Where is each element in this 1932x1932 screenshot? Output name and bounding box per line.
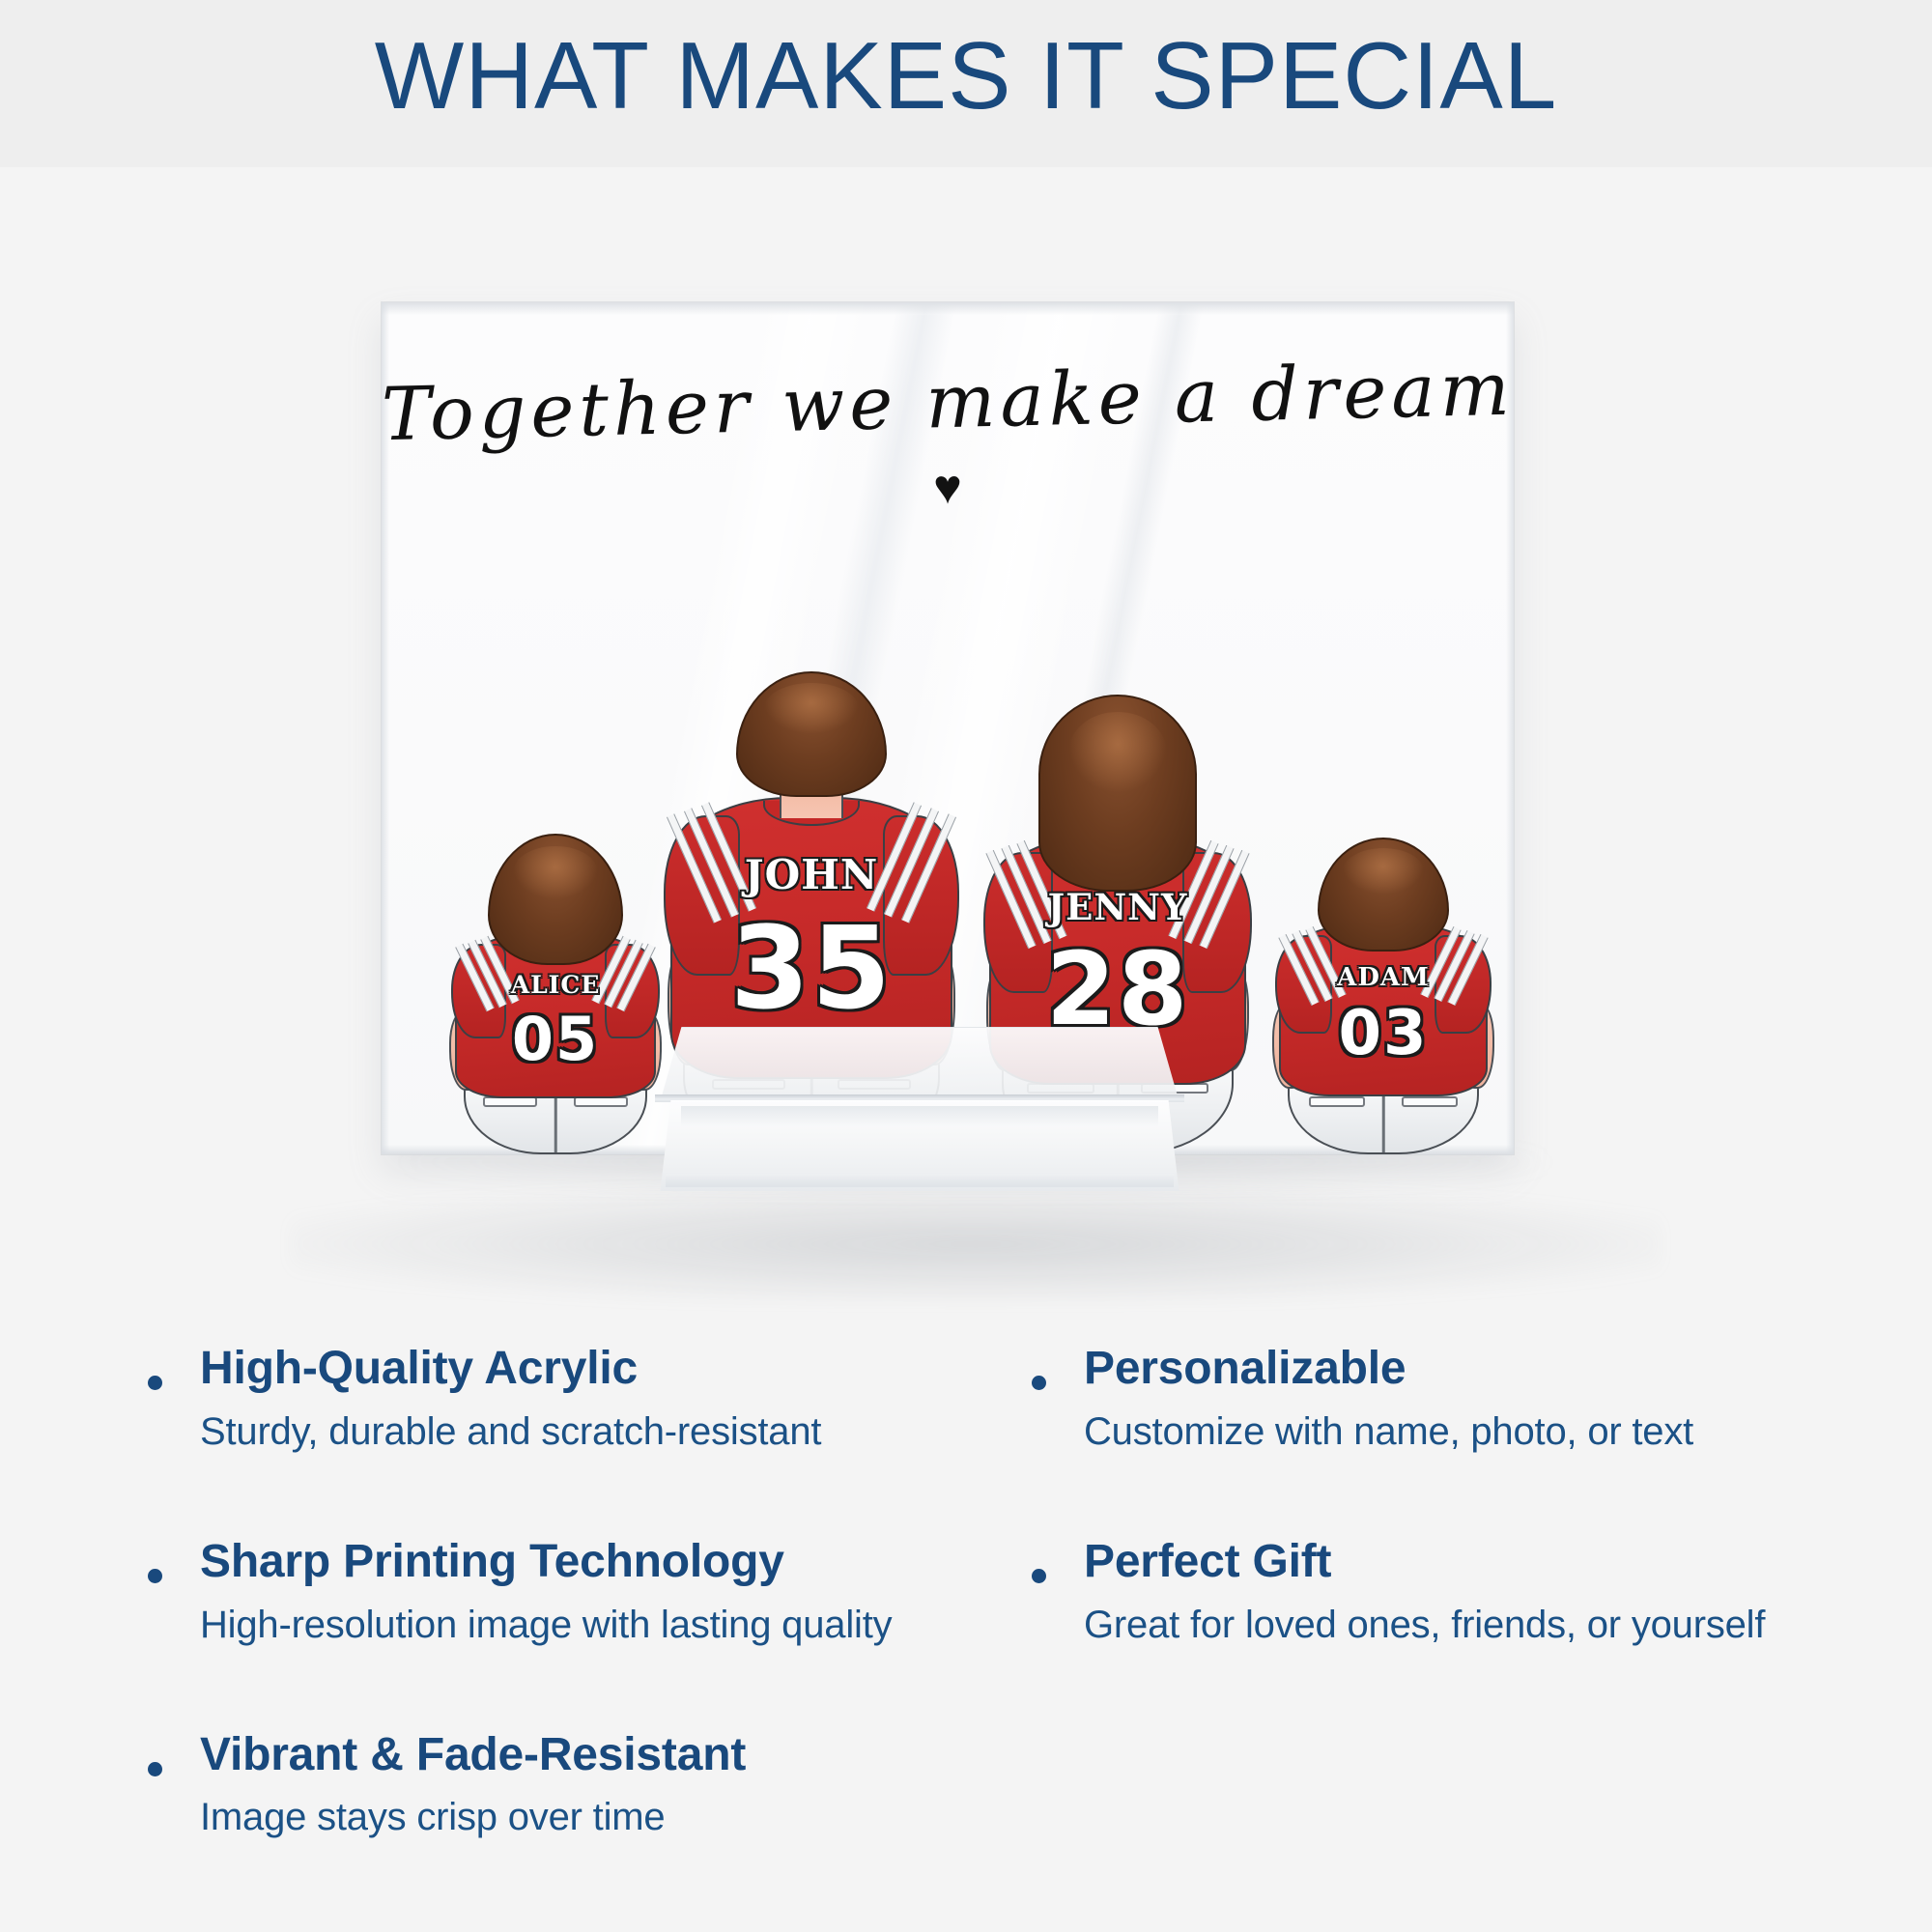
figure-alice: ALICE 05 bbox=[440, 836, 671, 1154]
plaque-quote: Together we make a dream team bbox=[382, 346, 1514, 458]
stand-front-face bbox=[655, 1100, 1184, 1191]
bullet-icon bbox=[1032, 1569, 1046, 1583]
feature-title: Perfect Gift bbox=[1084, 1536, 1869, 1588]
plaque-bevel-top bbox=[382, 302, 1514, 315]
feature-desc: Customize with name, photo, or text bbox=[1084, 1408, 1869, 1455]
figure-hair-jenny bbox=[1038, 695, 1197, 892]
feature-title: Personalizable bbox=[1084, 1343, 1869, 1395]
feature-item: Sharp Printing Technology High-resolutio… bbox=[135, 1536, 985, 1648]
figure-hair-alice bbox=[488, 834, 623, 965]
feature-item: High-Quality Acrylic Sturdy, durable and… bbox=[135, 1343, 985, 1455]
stand-top-face bbox=[661, 1027, 1179, 1099]
feature-desc: Image stays crisp over time bbox=[200, 1794, 985, 1840]
feature-desc: Sturdy, durable and scratch-resistant bbox=[200, 1408, 985, 1455]
stand-shadow bbox=[290, 1186, 1662, 1302]
jersey-name-jenny: JENNY bbox=[991, 886, 1244, 928]
feature-title: High-Quality Acrylic bbox=[200, 1343, 985, 1395]
feature-item: Perfect Gift Great for loved ones, frien… bbox=[1019, 1536, 1869, 1648]
figure-hair-john bbox=[736, 671, 887, 797]
jersey-name-john: JOHN bbox=[672, 851, 951, 898]
feature-item: Personalizable Customize with name, phot… bbox=[1019, 1343, 1869, 1455]
jersey-number-alice: 05 bbox=[457, 1004, 654, 1074]
jersey-number-adam: 03 bbox=[1281, 998, 1486, 1069]
bullet-icon bbox=[148, 1569, 162, 1583]
acrylic-stand-base bbox=[655, 1027, 1184, 1191]
figure-adam: ADAM 03 bbox=[1263, 814, 1504, 1154]
page-title: WHAT MAKES IT SPECIAL bbox=[0, 21, 1932, 130]
feature-title: Sharp Printing Technology bbox=[200, 1536, 985, 1588]
bullet-icon bbox=[1032, 1376, 1046, 1390]
bullet-icon bbox=[148, 1762, 162, 1776]
jersey-name-adam: ADAM bbox=[1281, 963, 1486, 992]
feature-item: Vibrant & Fade-Resistant Image stays cri… bbox=[135, 1729, 985, 1841]
feature-column-left: High-Quality Acrylic Sturdy, durable and… bbox=[135, 1343, 985, 1921]
bullet-icon bbox=[148, 1376, 162, 1390]
feature-desc: High-resolution image with lasting quali… bbox=[200, 1602, 985, 1648]
feature-desc: Great for loved ones, friends, or yourse… bbox=[1084, 1602, 1869, 1648]
feature-column-right: Personalizable Customize with name, phot… bbox=[1019, 1343, 1869, 1729]
jersey-name-alice: ALICE bbox=[457, 971, 654, 999]
product-stage: Together we make a dream team ♥ bbox=[0, 167, 1932, 1307]
feature-title: Vibrant & Fade-Resistant bbox=[200, 1729, 985, 1781]
jersey-number-john: 35 bbox=[672, 901, 951, 1035]
figure-hair-adam bbox=[1318, 838, 1449, 952]
